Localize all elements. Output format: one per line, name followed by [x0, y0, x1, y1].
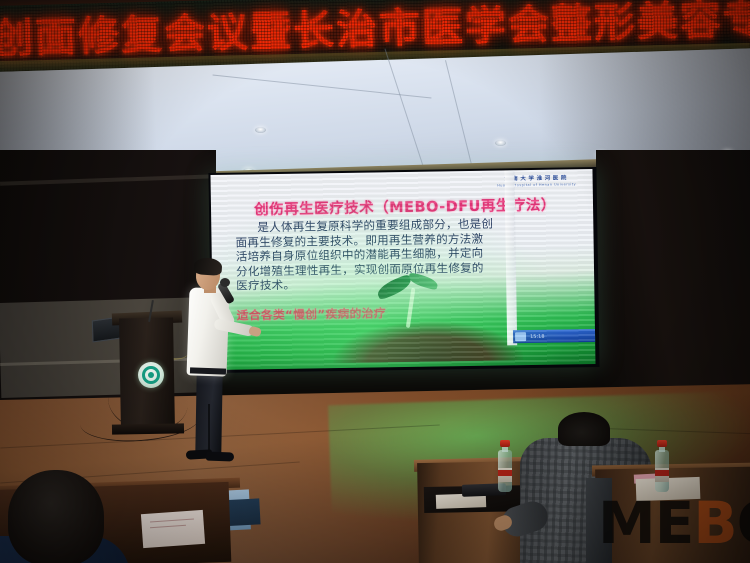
taskbar-clock: 15:18 — [530, 333, 545, 339]
speaker-leg-gap — [208, 404, 210, 456]
desk-paper-left — [141, 510, 205, 548]
slide-highlight-line: 适合各类“慢创”疾病的治疗 — [237, 301, 577, 323]
watermark-letter-m: M — [598, 489, 655, 557]
bottle-cap — [500, 440, 510, 447]
windows-taskbar[interactable]: 15:18 — [513, 329, 596, 343]
audience-left-head — [8, 470, 104, 563]
water-bottle — [655, 440, 669, 492]
speaker-shoe — [206, 452, 234, 462]
bottle-label-accent — [655, 470, 669, 476]
downlight-icon — [495, 140, 506, 146]
podium-base — [112, 423, 184, 434]
downlight-icon — [255, 127, 266, 133]
podium-emblem-dot — [148, 372, 154, 378]
audience-center-head — [558, 412, 610, 446]
start-button-icon[interactable] — [515, 332, 526, 341]
hospital-logo: 河南大学淮河医院 Huaihe Hospital of Henan Univer… — [489, 175, 585, 193]
slide-body: 是人体再生复原科学的重要组成部分，也是创 面再生修复的主要技术。即用再生营养的方… — [235, 215, 574, 293]
bottle-cap — [657, 440, 667, 447]
mebo-watermark: MEBO — [598, 492, 748, 556]
right-wall — [596, 150, 750, 410]
conference-hall-photo: 创面修复会议暨长治市医学会整形美容专业委 河南大学淮河医院 Huaihe Hos… — [0, 0, 750, 563]
bottle-label-accent — [498, 470, 512, 476]
speaker-belt — [190, 367, 226, 374]
microphone-capsule — [220, 278, 230, 287]
soil-artwork — [333, 320, 524, 363]
hospital-logo-en: Huaihe Hospital of Henan University — [489, 182, 585, 189]
watermark-letter-e: E — [655, 489, 694, 557]
watermark-letter-o: O — [737, 489, 750, 557]
watermark-letter-b: B — [693, 489, 736, 557]
projection-screen: 河南大学淮河医院 Huaihe Hospital of Henan Univer… — [210, 169, 595, 370]
water-bottle — [498, 440, 512, 492]
